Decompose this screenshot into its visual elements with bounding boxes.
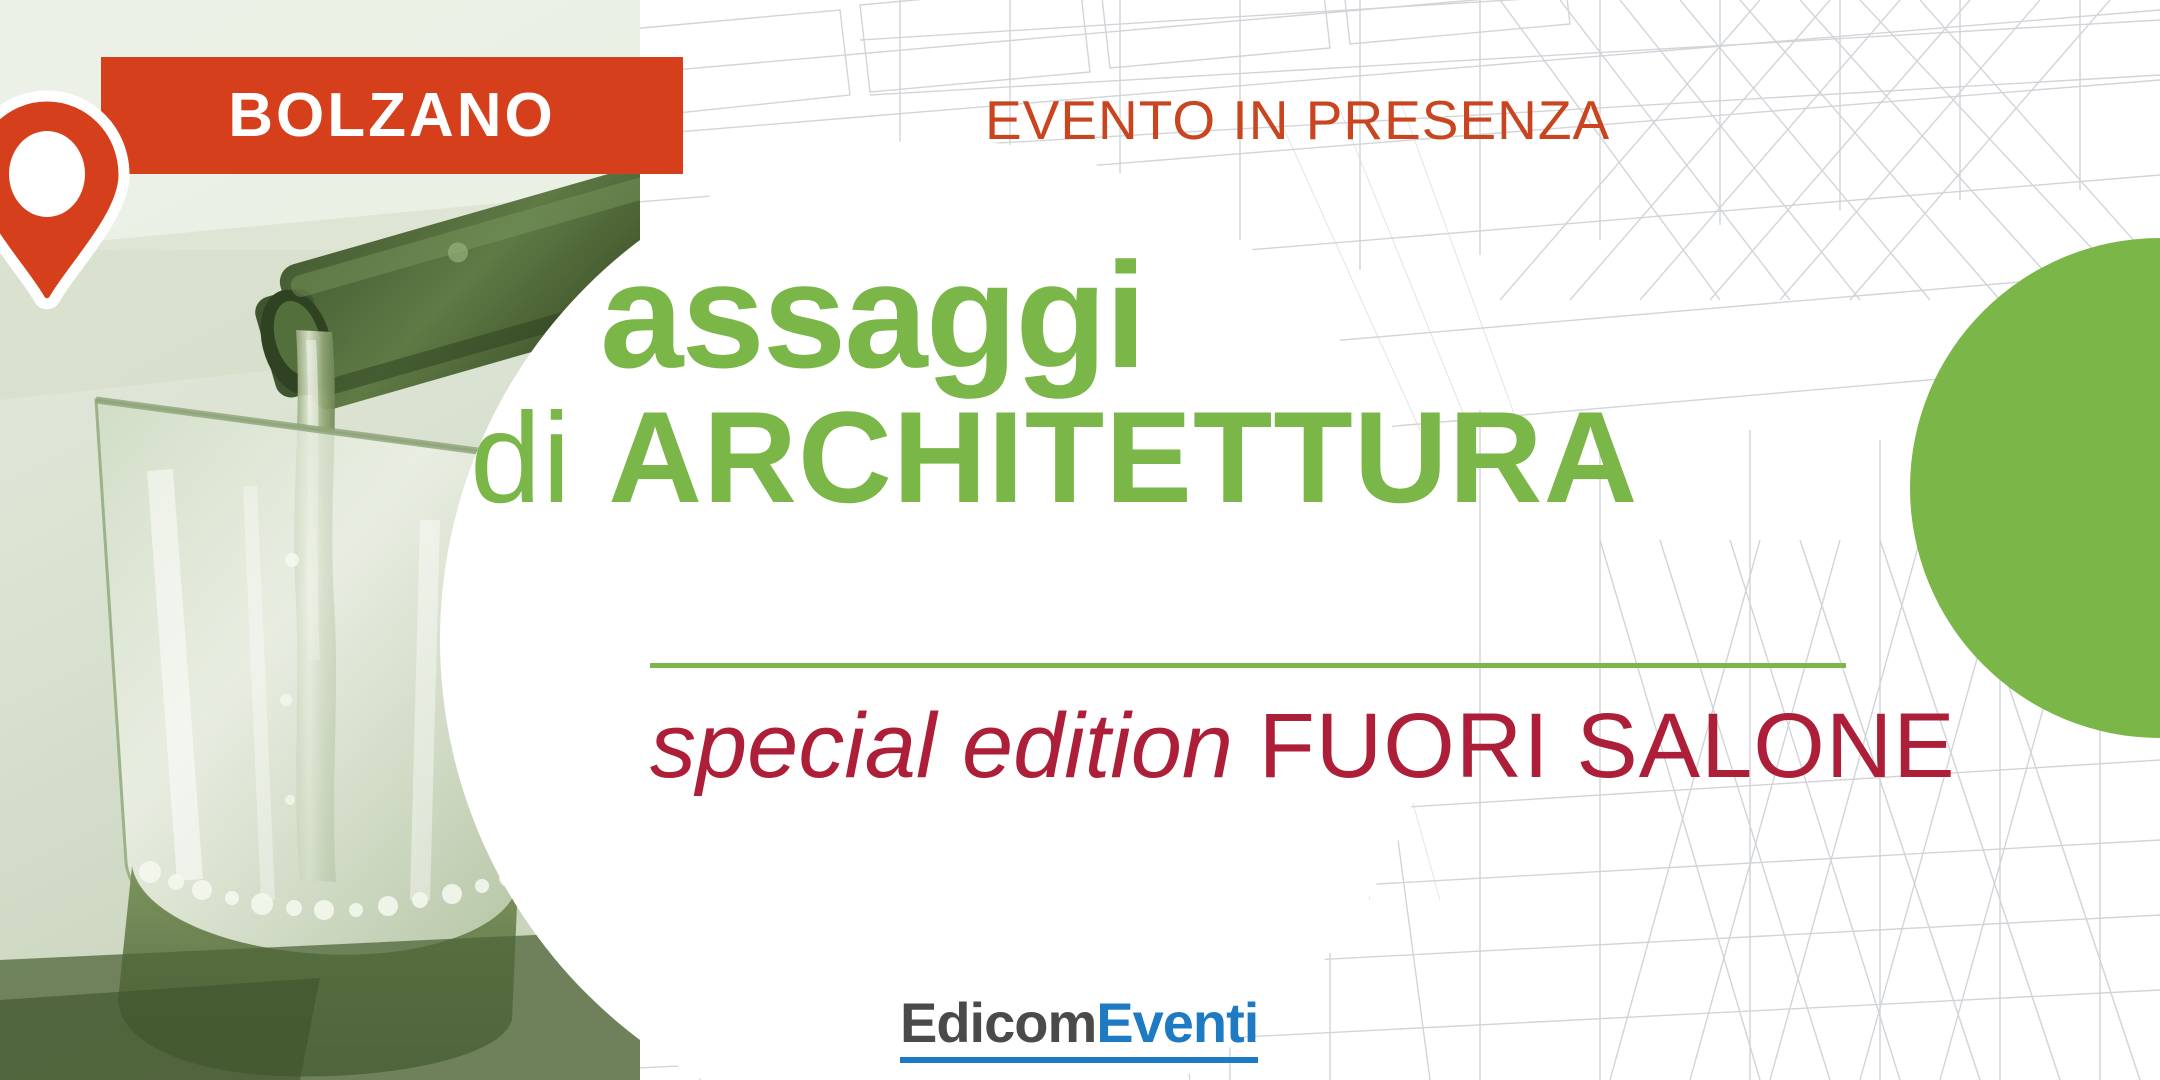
logo-word-eventi: Eventi	[1096, 991, 1258, 1054]
logo-underline	[900, 1057, 1258, 1063]
city-label: BOLZANO	[228, 85, 556, 147]
headline-block: assaggi di ARCHITETTURA	[600, 240, 1900, 523]
map-pin-icon	[0, 88, 142, 313]
edicom-eventi-logo[interactable]: EdicomEventi	[900, 995, 1258, 1063]
tagline-special-edition: special edition	[650, 695, 1259, 797]
edition-tagline: special edition FUORI SALONE	[650, 700, 1956, 792]
headline-word-architettura: ARCHITETTURA	[608, 384, 1638, 530]
logo-word-edicom: Edicom	[900, 991, 1096, 1054]
event-mode-label: EVENTO IN PRESENZA	[985, 93, 1610, 148]
headline-line-1: assaggi	[600, 240, 1900, 390]
headline-line-2: di ARCHITETTURA	[470, 392, 1900, 523]
headline-word-di: di	[470, 387, 608, 530]
green-divider-rule	[650, 663, 1846, 668]
location-badge: BOLZANO	[101, 57, 683, 174]
tagline-fuori-salone: FUORI SALONE	[1259, 695, 1956, 797]
event-promo-banner: BOLZANO EVENTO IN PRESENZA assaggi di AR…	[0, 0, 2160, 1080]
